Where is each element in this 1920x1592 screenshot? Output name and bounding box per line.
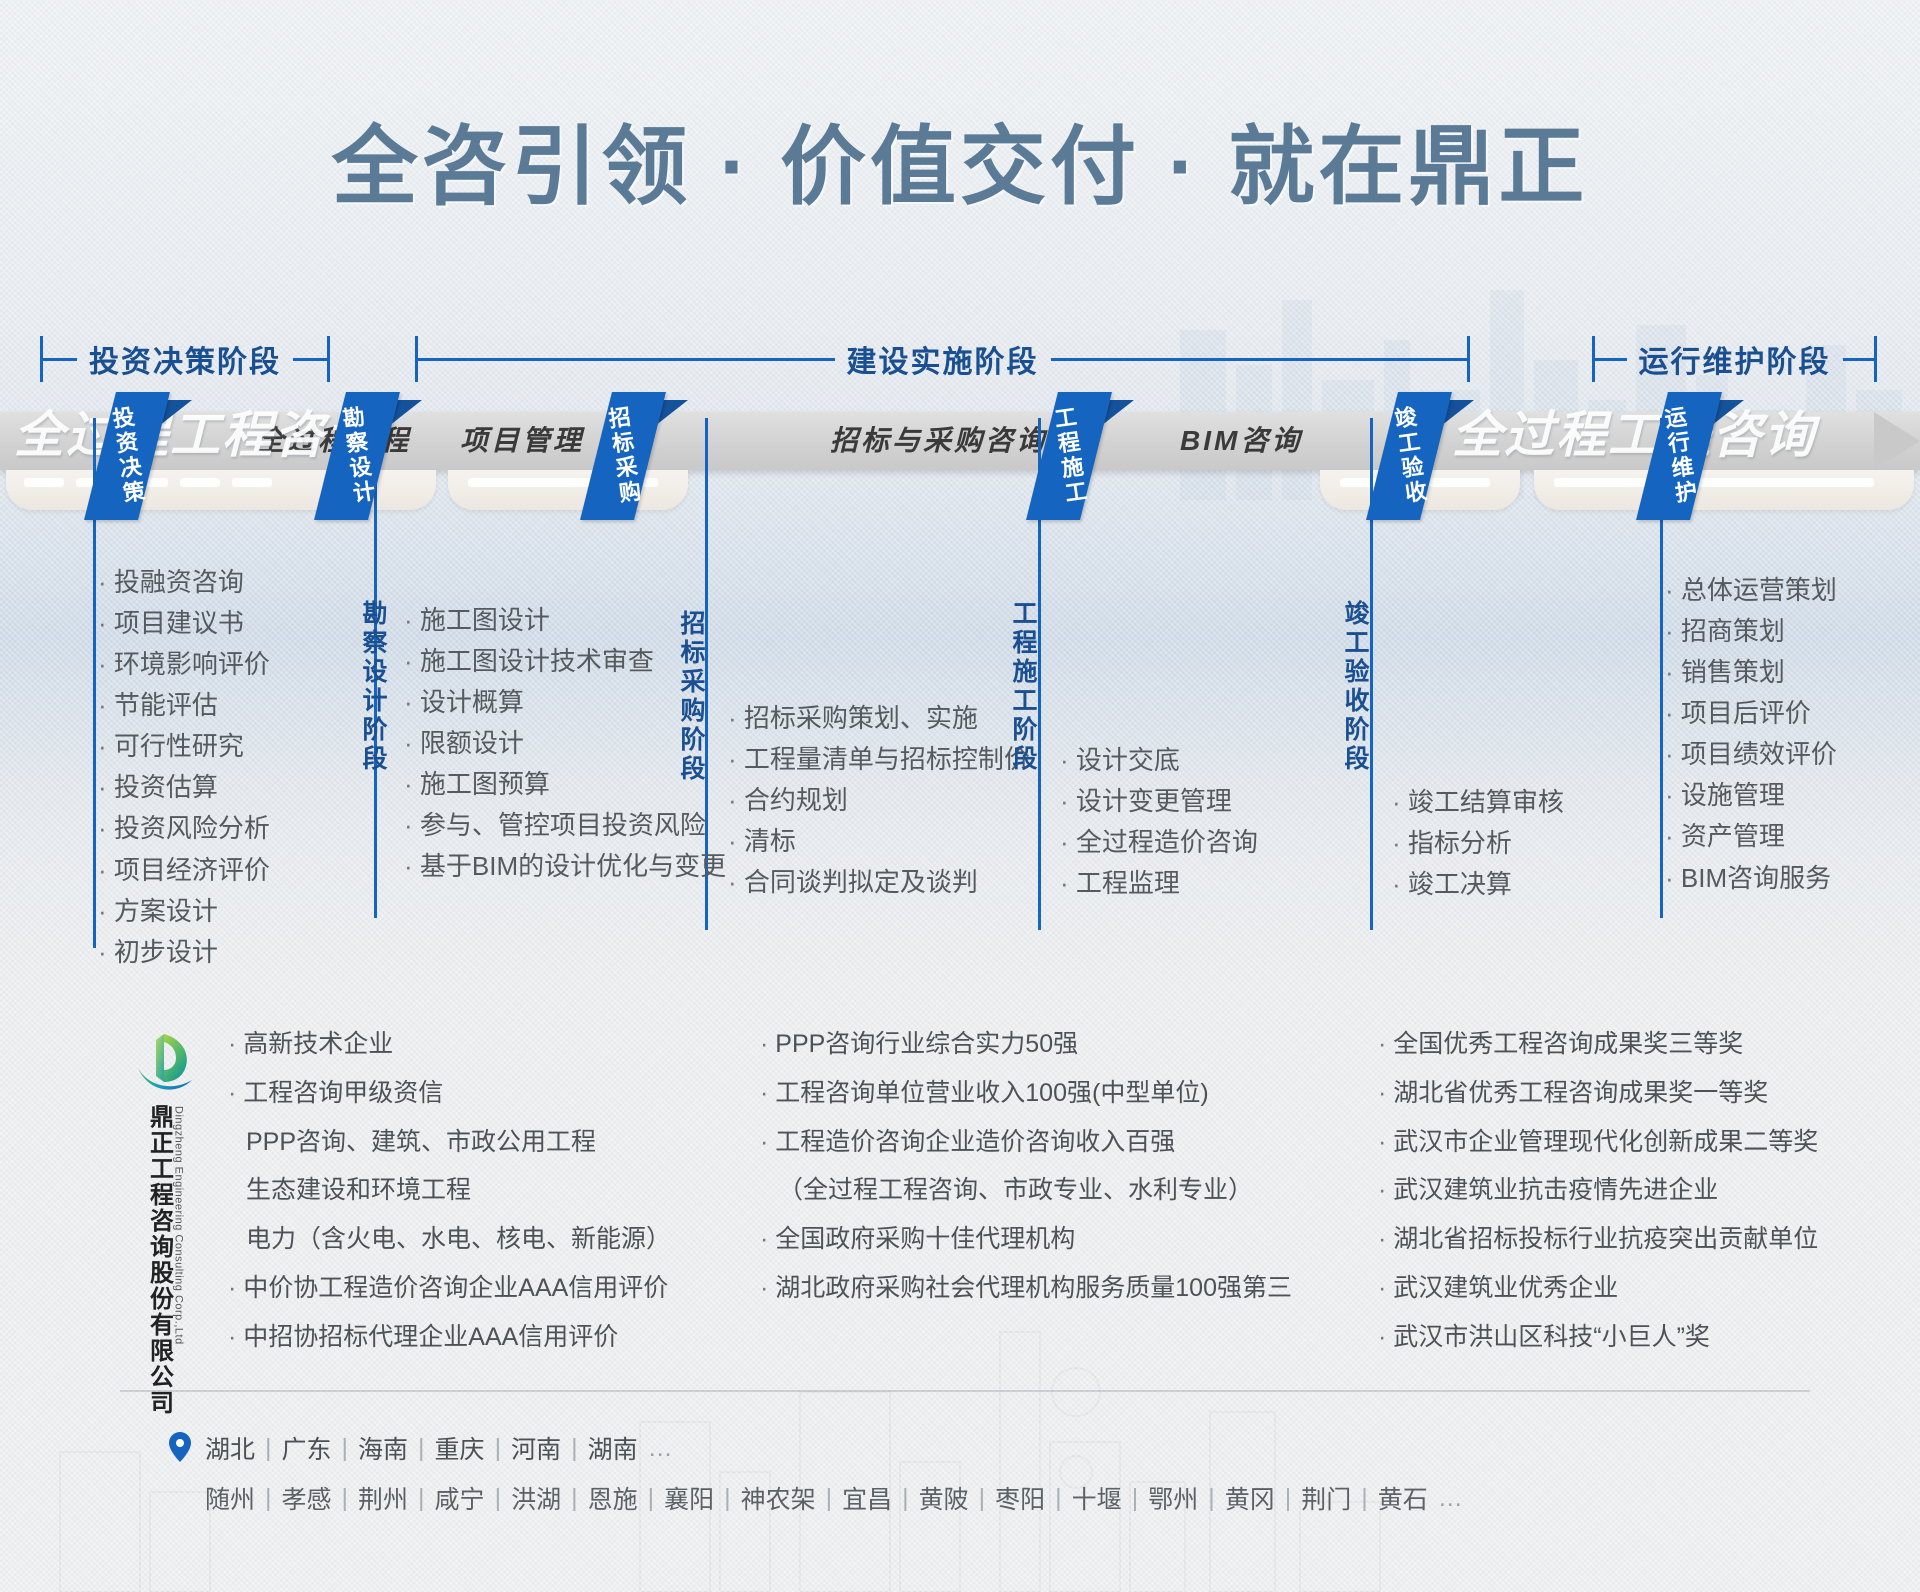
band-label-tender-procurement: 招标与采购咨询 bbox=[830, 418, 1047, 464]
stage-column-survey-design: 勘察设计阶段 施工图设计 施工图设计技术审查 设计概算 限额设计 施工图预算 参… bbox=[360, 600, 726, 888]
city-item: 黄石 bbox=[1378, 1480, 1428, 1516]
list-item: 合约规划 bbox=[728, 780, 1030, 821]
list-item: 销售策划 bbox=[1665, 652, 1837, 693]
flag-operation-maintenance[interactable]: 运行维护 bbox=[1652, 392, 1706, 520]
stage-vertical-label: 竣工验收阶段 bbox=[1342, 600, 1367, 790]
flag-survey-design[interactable]: 勘察设计 bbox=[330, 392, 384, 520]
list-item: 方案设计 bbox=[98, 891, 270, 932]
bracket-rule-left bbox=[43, 358, 77, 361]
dingzheng-logo-icon bbox=[134, 1030, 196, 1100]
list-item: 项目建议书 bbox=[98, 603, 270, 644]
stage-column-tender: 招标采购阶段 招标采购策划、实施 工程量清单与招标控制价 合约规划 清标 合同谈… bbox=[690, 610, 1030, 903]
city-item: 荆门 bbox=[1301, 1480, 1351, 1516]
flag-label: 运行维护 bbox=[1656, 404, 1702, 507]
list-item: 资产管理 bbox=[1665, 816, 1837, 857]
bracket-rule-right bbox=[1843, 358, 1875, 361]
list-item: 清标 bbox=[728, 821, 1030, 862]
cert-item: 电力（含火电、水电、核电、新能源） bbox=[228, 1215, 671, 1264]
flag-label: 勘察设计 bbox=[334, 404, 380, 507]
band-underlay-seg-4 bbox=[1534, 470, 1914, 510]
bracket-rule-right bbox=[293, 358, 327, 361]
city-item: 枣阳 bbox=[995, 1480, 1045, 1516]
list-item: 节能评估 bbox=[98, 685, 270, 726]
phase-bracket-row: 投资决策阶段 建设实施阶段 运行维护阶段 bbox=[0, 330, 1920, 390]
cert-item: 工程咨询单位营业收入100强(中型单位) bbox=[760, 1069, 1292, 1118]
bracket-cap-right bbox=[1467, 336, 1470, 382]
flag-label: 投资决策 bbox=[104, 404, 150, 507]
list-item: 竣工结算审核 bbox=[1392, 782, 1564, 823]
phase-label-operation: 运行维护阶段 bbox=[1627, 337, 1843, 381]
stage-item-list: 设计交底 设计变更管理 全过程造价咨询 工程监理 bbox=[1060, 740, 1258, 904]
bracket-rule-left bbox=[418, 358, 835, 361]
province-more: … bbox=[638, 1434, 673, 1463]
company-name-en: Dingzheng Engineering Consulting Corp.,L… bbox=[173, 1106, 184, 1416]
cert-item: 湖北省招标投标行业抗疫突出贡献单位 bbox=[1378, 1215, 1818, 1264]
list-item: 招标采购策划、实施 bbox=[728, 698, 1030, 739]
band-watermark-left: 全过程工程咨询 bbox=[14, 406, 378, 464]
city-item: 十堰 bbox=[1072, 1480, 1122, 1516]
list-item: 合同谈判拟定及谈判 bbox=[728, 862, 1030, 903]
list-item: 环境影响评价 bbox=[98, 644, 270, 685]
cert-item: 武汉建筑业抗击疫情先进企业 bbox=[1378, 1166, 1818, 1215]
list-item: 设施管理 bbox=[1665, 775, 1837, 816]
footer-divider bbox=[120, 1390, 1810, 1392]
phase-bracket-investment: 投资决策阶段 bbox=[40, 330, 330, 388]
city-item: 黄陂 bbox=[919, 1480, 969, 1516]
cert-item: 高新技术企业 bbox=[228, 1020, 671, 1069]
list-item: BIM咨询服务 bbox=[1665, 858, 1837, 899]
stage-item-list: 招标采购策划、实施 工程量清单与招标控制价 合约规划 清标 合同谈判拟定及谈判 bbox=[728, 698, 1030, 903]
list-item: 投融资咨询 bbox=[98, 562, 270, 603]
province-row: 湖北| 广东| 海南| 重庆| 河南| 湖南 … bbox=[205, 1430, 1463, 1466]
cert-item: 武汉市企业管理现代化创新成果二等奖 bbox=[1378, 1118, 1818, 1167]
list-item: 初步设计 bbox=[98, 932, 270, 973]
phase-bracket-operation: 运行维护阶段 bbox=[1592, 330, 1877, 388]
city-item: 孝感 bbox=[282, 1480, 332, 1516]
phase-bracket-construction: 建设实施阶段 bbox=[415, 330, 1470, 388]
bracket-rule-left bbox=[1595, 358, 1627, 361]
list-item: 项目后评价 bbox=[1665, 693, 1837, 734]
province-item: 广东 bbox=[282, 1430, 332, 1466]
flag-investment-decision[interactable]: 投资决策 bbox=[100, 392, 154, 520]
company-name-cn: 鼎正工程咨询股份有限公司 bbox=[147, 1104, 171, 1416]
bracket-rule-right bbox=[1051, 358, 1468, 361]
list-item: 工程量清单与招标控制价 bbox=[728, 739, 1030, 780]
list-item: 项目经济评价 bbox=[98, 850, 270, 891]
band-underlay-seg-2 bbox=[448, 470, 688, 510]
cert-column-3: 全国优秀工程咨询成果奖三等奖 湖北省优秀工程咨询成果奖一等奖 武汉市企业管理现代… bbox=[1378, 1020, 1818, 1361]
stage-item-list: 竣工结算审核 指标分析 竣工决算 bbox=[1392, 782, 1564, 905]
city-item: 宜昌 bbox=[842, 1480, 892, 1516]
cert-item: 工程咨询甲级资信 bbox=[228, 1069, 671, 1118]
flag-completion-acceptance[interactable]: 竣工验收 bbox=[1382, 392, 1436, 520]
band-watermark-right: 全过程工程咨询 bbox=[1452, 406, 1816, 464]
list-item: 工程监理 bbox=[1060, 863, 1258, 904]
list-item: 总体运营策划 bbox=[1665, 570, 1837, 611]
list-item: 可行性研究 bbox=[98, 726, 270, 767]
flag-label: 工程施工 bbox=[1046, 404, 1092, 507]
cert-item: 武汉市洪山区科技“小巨人”奖 bbox=[1378, 1313, 1818, 1362]
page-title: 全咨引领 · 价值交付 · 就在鼎正 bbox=[0, 0, 1920, 221]
cert-list: 全国优秀工程咨询成果奖三等奖 湖北省优秀工程咨询成果奖一等奖 武汉市企业管理现代… bbox=[1378, 1020, 1818, 1361]
city-item: 襄阳 bbox=[664, 1480, 714, 1516]
city-item: 洪湖 bbox=[511, 1480, 561, 1516]
cert-item: PPP咨询、建筑、市政公用工程 bbox=[228, 1118, 671, 1167]
list-item: 基于BIM的设计优化与变更 bbox=[404, 846, 726, 887]
stage-vertical-label: 工程施工阶段 bbox=[1010, 600, 1035, 790]
list-item: 投资估算 bbox=[98, 767, 270, 808]
phase-label-construction: 建设实施阶段 bbox=[835, 337, 1051, 381]
cert-item: 全国政府采购十佳代理机构 bbox=[760, 1215, 1292, 1264]
phase-label-investment: 投资决策阶段 bbox=[77, 337, 293, 381]
cert-item: 武汉建筑业优秀企业 bbox=[1378, 1264, 1818, 1313]
province-item: 湖北 bbox=[205, 1430, 255, 1466]
city-item: 鄂州 bbox=[1148, 1480, 1198, 1516]
cert-item: 中招协招标代理企业AAA信用评价 bbox=[228, 1313, 671, 1362]
list-item: 竣工决算 bbox=[1392, 864, 1564, 905]
stage-item-list: 总体运营策划 招商策划 销售策划 项目后评价 项目绩效评价 设施管理 资产管理 … bbox=[1665, 570, 1837, 899]
list-item: 参与、管控项目投资风险 bbox=[404, 805, 726, 846]
company-name-block: 鼎正工程咨询股份有限公司 Dingzheng Engineering Consu… bbox=[120, 1104, 210, 1416]
flag-label: 竣工验收 bbox=[1386, 404, 1432, 507]
list-item: 设计交底 bbox=[1060, 740, 1258, 781]
city-item: 荆州 bbox=[358, 1480, 408, 1516]
list-item: 投资风险分析 bbox=[98, 808, 270, 849]
cert-item: 全国优秀工程咨询成果奖三等奖 bbox=[1378, 1020, 1818, 1069]
city-item: 黄冈 bbox=[1225, 1480, 1275, 1516]
stage-vertical-label: 招标采购阶段 bbox=[678, 610, 703, 800]
stage-column-investment: 投融资咨询 项目建议书 环境影响评价 节能评估 可行性研究 投资估算 投资风险分… bbox=[98, 562, 270, 973]
process-band-arrow bbox=[1874, 412, 1920, 470]
cert-item: 工程造价咨询企业造价咨询收入百强 bbox=[760, 1118, 1292, 1167]
cert-list: 高新技术企业 工程咨询甲级资信 PPP咨询、建筑、市政公用工程 生态建设和环境工… bbox=[228, 1020, 671, 1361]
stage-item-list: 投融资咨询 项目建议书 环境影响评价 节能评估 可行性研究 投资估算 投资风险分… bbox=[98, 562, 270, 973]
location-pin-icon bbox=[169, 1432, 191, 1462]
cert-column-1: 高新技术企业 工程咨询甲级资信 PPP咨询、建筑、市政公用工程 生态建设和环境工… bbox=[228, 1020, 671, 1361]
city-item: 恩施 bbox=[588, 1480, 638, 1516]
stage-vertical-label: 勘察设计阶段 bbox=[360, 600, 385, 790]
cert-item: 湖北政府采购社会代理机构服务质量100强第三 bbox=[760, 1264, 1292, 1313]
company-logo: 鼎正工程咨询股份有限公司 Dingzheng Engineering Consu… bbox=[120, 1030, 210, 1416]
province-item: 海南 bbox=[358, 1430, 408, 1466]
city-row: 随州| 孝感| 荆州| 咸宁| 洪湖| 恩施| 襄阳| 神农架| 宜昌| 黄陂|… bbox=[205, 1480, 1463, 1516]
list-item: 项目绩效评价 bbox=[1665, 734, 1837, 775]
list-item: 招商策划 bbox=[1665, 611, 1837, 652]
province-item: 河南 bbox=[511, 1430, 561, 1466]
bracket-cap-right bbox=[327, 336, 330, 382]
flag-label: 招标采购 bbox=[600, 404, 646, 507]
flag-construction[interactable]: 工程施工 bbox=[1042, 392, 1096, 520]
stage-column-operation: 总体运营策划 招商策划 销售策划 项目后评价 项目绩效评价 设施管理 资产管理 … bbox=[1665, 570, 1837, 899]
process-band-underlay bbox=[0, 470, 1920, 512]
footer-locations: 湖北| 广东| 海南| 重庆| 河南| 湖南 … 随州| 孝感| 荆州| 咸宁|… bbox=[205, 1430, 1463, 1516]
cert-item: 中价协工程造价咨询企业AAA信用评价 bbox=[228, 1264, 671, 1313]
cert-list: PPP咨询行业综合实力50强 工程咨询单位营业收入100强(中型单位) 工程造价… bbox=[760, 1020, 1292, 1313]
province-item: 重庆 bbox=[435, 1430, 485, 1466]
province-item: 湖南 bbox=[588, 1430, 638, 1466]
city-item: 咸宁 bbox=[435, 1480, 485, 1516]
cert-item: PPP咨询行业综合实力50强 bbox=[760, 1020, 1292, 1069]
band-label-project-management: 项目管理 bbox=[460, 418, 584, 464]
city-more: … bbox=[1428, 1484, 1463, 1513]
cert-item: 生态建设和环境工程 bbox=[228, 1166, 671, 1215]
city-item: 随州 bbox=[205, 1480, 255, 1516]
city-item: 神农架 bbox=[741, 1480, 816, 1516]
stage-column-construction: 工程施工阶段 设计交底 设计变更管理 全过程造价咨询 工程监理 bbox=[1022, 600, 1258, 904]
bracket-cap-right bbox=[1874, 336, 1877, 382]
cert-column-2: PPP咨询行业综合实力50强 工程咨询单位营业收入100强(中型单位) 工程造价… bbox=[760, 1020, 1292, 1313]
cert-item: （全过程工程咨询、市政专业、水利专业） bbox=[760, 1166, 1292, 1215]
list-item: 设计变更管理 bbox=[1060, 781, 1258, 822]
list-item: 全过程造价咨询 bbox=[1060, 822, 1258, 863]
cert-item: 湖北省优秀工程咨询成果奖一等奖 bbox=[1378, 1069, 1818, 1118]
stage-column-completion: 竣工验收阶段 竣工结算审核 指标分析 竣工决算 bbox=[1354, 600, 1564, 905]
band-label-bim: BIM咨询 bbox=[1180, 418, 1302, 464]
flag-tender-procurement[interactable]: 招标采购 bbox=[596, 392, 650, 520]
list-item: 指标分析 bbox=[1392, 823, 1564, 864]
